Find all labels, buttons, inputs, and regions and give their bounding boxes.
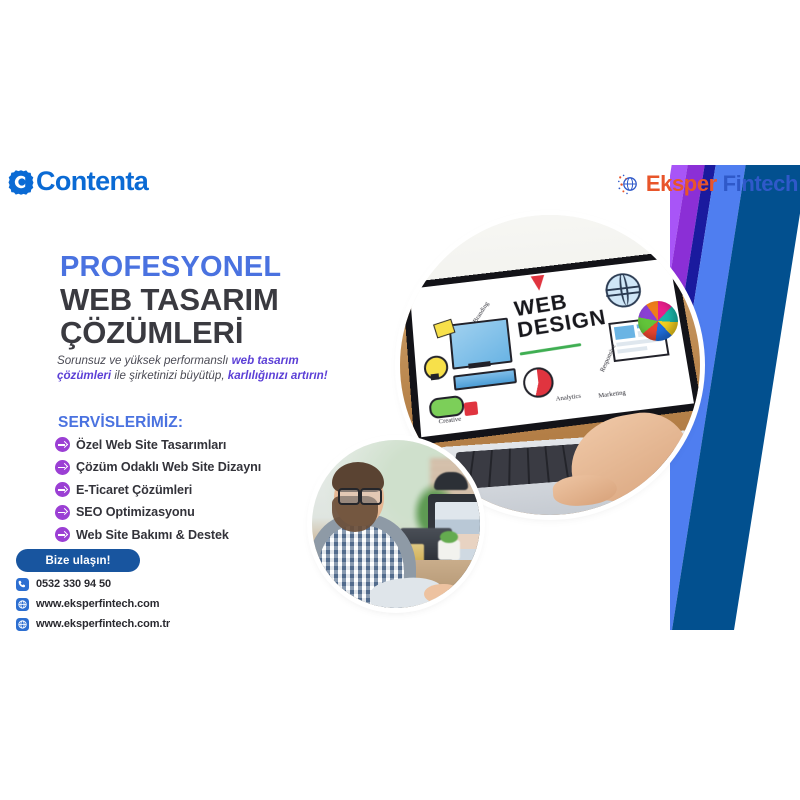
service-label: Web Site Bakımı & Destek	[76, 528, 229, 542]
contenta-gear-c-logo-icon	[8, 169, 34, 195]
globe-icon	[16, 618, 29, 631]
man-hand	[424, 584, 460, 604]
sketch-keyboard-icon	[453, 368, 517, 391]
sketch-red-marker-icon	[531, 275, 546, 292]
services-title: SERVİSLERİMİZ:	[58, 414, 183, 432]
sketch-label: Marketing	[598, 389, 626, 399]
headline-line-2: WEB TASARIM	[60, 283, 360, 316]
website-url: www.eksperfintech.com	[36, 598, 159, 610]
phone-icon	[16, 578, 29, 591]
eksper-fintech-logo-text: Eksper Fintech	[646, 173, 798, 195]
sketch-globe-icon	[603, 271, 643, 309]
eyeglasses	[338, 488, 384, 501]
services-list: Özel Web Site Tasarımları Çözüm Odaklı W…	[55, 434, 335, 547]
service-label: Çözüm Odaklı Web Site Dizaynı	[76, 460, 261, 474]
man-working-at-desk-photo	[312, 440, 480, 608]
subtitle-text: Sorunsuz ve yüksek performanslı web tasa…	[57, 353, 342, 384]
list-item: Çözüm Odaklı Web Site Dizaynı	[55, 457, 335, 478]
eksper-dots-sphere-logo-icon	[617, 172, 641, 196]
contact-phone[interactable]: 0532 330 94 50	[16, 575, 276, 593]
promotional-banner: Contenta Eksper Fintech PROFESYONEL	[0, 0, 800, 800]
list-item: Özel Web Site Tasarımları	[55, 434, 335, 455]
sketch-lightbulb-base	[431, 373, 440, 380]
web-design-sketch-title: WEB DESIGN	[513, 286, 608, 342]
list-item: E-Ticaret Çözümleri	[55, 479, 335, 500]
circle-arrow-right-icon	[55, 527, 70, 542]
sketch-label: Creative	[438, 416, 461, 426]
eksper-word: Eksper	[646, 171, 717, 196]
circle-arrow-right-icon	[55, 482, 70, 497]
website-url: www.eksperfintech.com.tr	[36, 618, 170, 630]
service-label: E-Ticaret Çözümleri	[76, 483, 192, 497]
contact-list: 0532 330 94 50 www.eksperfintech.com w	[16, 575, 276, 635]
sketch-label: Analytics	[555, 393, 581, 403]
contact-website-comtr[interactable]: www.eksperfintech.com.tr	[16, 615, 276, 633]
subtitle-seg-3: ile şirketinizi büyütüp,	[111, 369, 228, 382]
list-item: Web Site Bakımı & Destek	[55, 524, 335, 545]
subtitle-highlight-2: karlılığınızı artırın!	[228, 369, 328, 382]
sketch-pie-chart-icon	[522, 366, 556, 400]
contact-website-com[interactable]: www.eksperfintech.com	[16, 595, 276, 613]
desk-lamp	[434, 472, 468, 490]
fintech-word: Fintech	[723, 171, 798, 196]
eksper-fintech-logo[interactable]: Eksper Fintech	[617, 172, 798, 196]
phone-number: 0532 330 94 50	[36, 578, 111, 590]
service-label: Özel Web Site Tasarımları	[76, 438, 226, 452]
headline-block: PROFESYONEL WEB TASARIM ÇÖZÜMLERİ	[60, 252, 360, 350]
subtitle-seg-1: Sorunsuz ve yüksek performanslı	[57, 354, 232, 367]
circle-arrow-right-icon	[55, 505, 70, 520]
contenta-logo[interactable]: Contenta	[8, 168, 148, 195]
sketch-underline	[520, 343, 582, 356]
list-item: SEO Optimizasyonu	[55, 502, 335, 523]
contenta-logo-text: Contenta	[36, 168, 148, 195]
globe-icon	[16, 598, 29, 611]
colorful-yarn-ball	[638, 301, 678, 341]
circle-arrow-right-icon	[55, 437, 70, 452]
headline-line-3: ÇÖZÜMLERİ	[60, 316, 360, 349]
headline-line-1: PROFESYONEL	[60, 252, 360, 283]
circle-arrow-right-icon	[55, 460, 70, 475]
service-label: SEO Optimizasyonu	[76, 505, 195, 519]
small-potted-plant	[438, 540, 460, 560]
contact-us-button[interactable]: Bize ulaşın!	[16, 549, 140, 572]
sketch-red-square-icon	[464, 401, 478, 416]
